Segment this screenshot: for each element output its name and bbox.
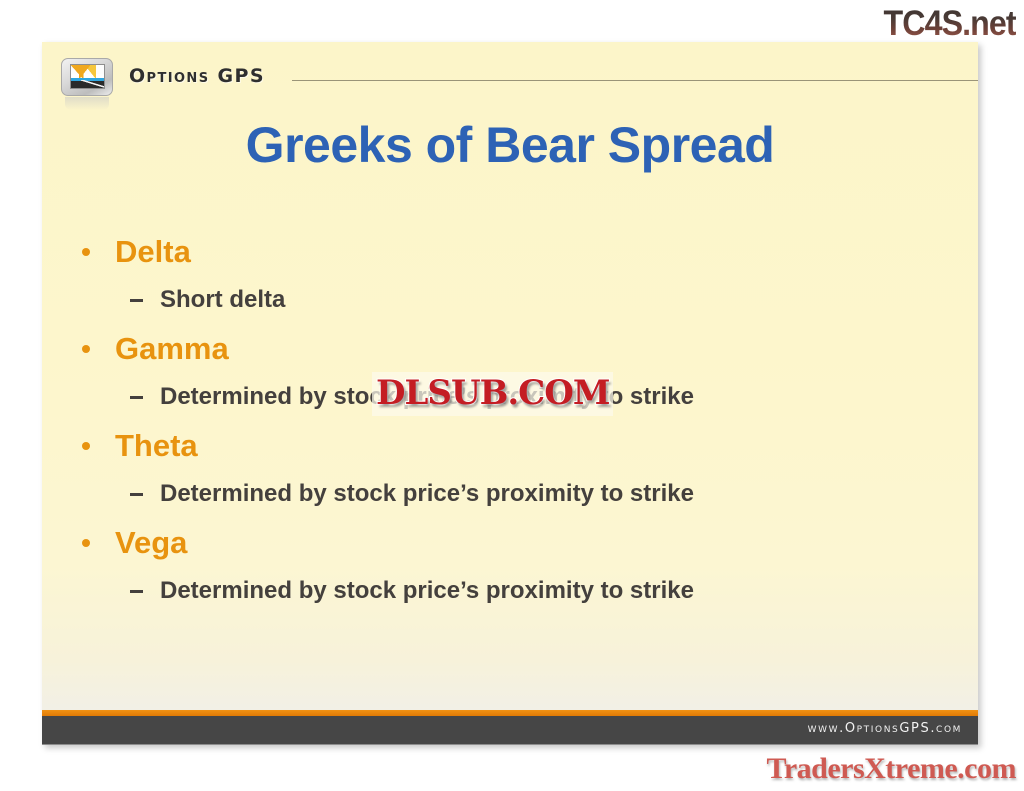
site-brand-tc4s: TC4S.net	[884, 2, 1016, 46]
options-gps-wordmark: Options GPS	[129, 65, 265, 87]
bullet-level2-delta: Short delta	[42, 276, 978, 324]
bullet-dash-icon	[130, 493, 143, 496]
bullet-level1-label: Theta	[115, 428, 198, 463]
bullet-level1-delta: Delta	[42, 227, 978, 276]
gps-icon-road	[81, 80, 105, 88]
bullet-dash-icon	[130, 396, 143, 399]
bullet-level2-theta: Determined by stock price’s proximity to…	[42, 470, 978, 518]
bullet-group-vega: Vega Determined by stock price’s proximi…	[42, 518, 978, 615]
gps-icon-screen	[70, 64, 105, 89]
partner-brand-tradersxtreme: TradersXtreme.com	[767, 752, 1016, 786]
bullet-level1-label: Vega	[115, 525, 187, 560]
footer-website-url: www.OptionsGPS.com	[808, 721, 962, 736]
bullet-dot-icon	[82, 539, 90, 547]
bullet-dot-icon	[82, 248, 90, 256]
bullet-level1-theta: Theta	[42, 421, 978, 470]
dlsub-watermark: DLSUB.COM	[372, 372, 613, 416]
bullet-level2-label: Short delta	[160, 286, 285, 313]
header-divider	[292, 80, 978, 81]
bullet-list: Delta Short delta Gamma Determined by st…	[42, 227, 978, 615]
bullet-group-theta: Theta Determined by stock price’s proxim…	[42, 421, 978, 518]
presentation-slide: Options GPS Greeks of Bear Spread Delta …	[42, 42, 978, 745]
bullet-level2-label: Determined by stock price’s proximity to…	[160, 480, 694, 507]
bullet-level1-label: Delta	[115, 234, 191, 269]
bullet-dash-icon	[130, 590, 143, 593]
bullet-group-delta: Delta Short delta	[42, 227, 978, 324]
bullet-level2-vega: Determined by stock price’s proximity to…	[42, 567, 978, 615]
slide-header: Options GPS	[42, 42, 978, 104]
slide-footer-bar: www.OptionsGPS.com	[42, 716, 978, 745]
gps-icon-reflection	[65, 97, 109, 110]
slide-title: Greeks of Bear Spread	[42, 116, 978, 174]
bullet-dash-icon	[130, 299, 143, 302]
bullet-level1-gamma: Gamma	[42, 324, 978, 373]
bullet-dot-icon	[82, 345, 90, 353]
bullet-dot-icon	[82, 442, 90, 450]
gps-device-icon	[61, 58, 113, 100]
bullet-level1-vega: Vega	[42, 518, 978, 567]
bullet-level1-label: Gamma	[115, 331, 229, 366]
bullet-level2-label: Determined by stock price’s proximity to…	[160, 577, 694, 604]
